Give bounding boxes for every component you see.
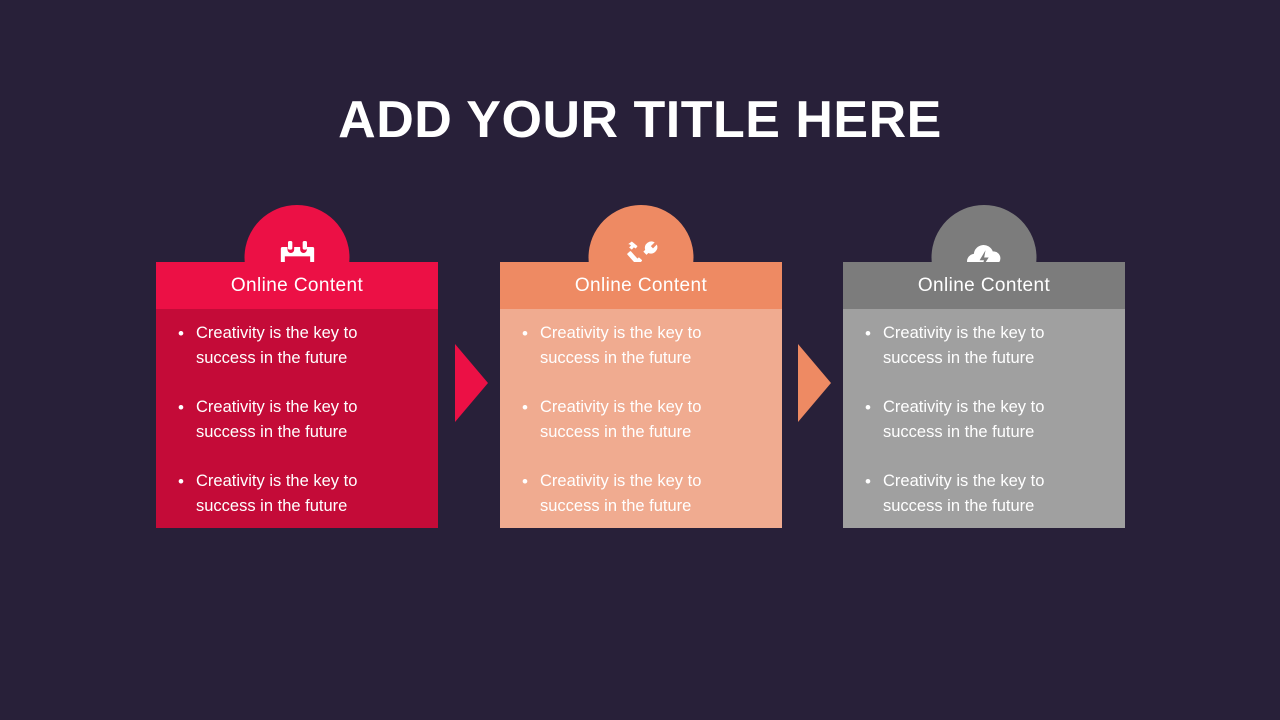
list-item: • Creativity is the key to success in th… (865, 469, 1111, 519)
list-item: • Creativity is the key to success in th… (178, 469, 424, 519)
bullet-glyph: • (522, 395, 540, 420)
arrow-right-icon-2 (798, 344, 831, 422)
list-item: • Creativity is the key to success in th… (865, 321, 1111, 371)
list-item: • Creativity is the key to success in th… (522, 469, 768, 519)
list-item-text: Creativity is the key to success in the … (540, 395, 740, 445)
list-item-text: Creativity is the key to success in the … (196, 321, 396, 371)
list-item-text: Creativity is the key to success in the … (196, 395, 396, 445)
list-item-text: Creativity is the key to success in the … (883, 321, 1083, 371)
list-item: • Creativity is the key to success in th… (178, 321, 424, 371)
list-item-text: Creativity is the key to success in the … (883, 469, 1083, 519)
process-card-3[interactable]: Online Content • Creativity is the key t… (843, 262, 1125, 528)
list-item-text: Creativity is the key to success in the … (540, 321, 740, 371)
list-item: • Creativity is the key to success in th… (178, 395, 424, 445)
list-item: • Creativity is the key to success in th… (522, 321, 768, 371)
arrow-right-icon-1 (455, 344, 488, 422)
list-item: • Creativity is the key to success in th… (865, 395, 1111, 445)
process-card-1[interactable]: Online Content • Creativity is the key t… (156, 262, 438, 528)
list-item-text: Creativity is the key to success in the … (540, 469, 740, 519)
card-3-body: • Creativity is the key to success in th… (843, 309, 1125, 528)
bullet-glyph: • (865, 469, 883, 494)
process-cards-container: Online Content • Creativity is the key t… (0, 0, 1280, 720)
card-2-header: Online Content (500, 262, 782, 309)
bullet-glyph: • (522, 321, 540, 346)
bullet-glyph: • (178, 395, 196, 420)
list-item-text: Creativity is the key to success in the … (883, 395, 1083, 445)
card-1-body: • Creativity is the key to success in th… (156, 309, 438, 528)
bullet-glyph: • (522, 469, 540, 494)
bullet-glyph: • (178, 469, 196, 494)
list-item: • Creativity is the key to success in th… (522, 395, 768, 445)
bullet-glyph: • (865, 321, 883, 346)
card-3-header: Online Content (843, 262, 1125, 309)
bullet-glyph: • (865, 395, 883, 420)
list-item-text: Creativity is the key to success in the … (196, 469, 396, 519)
process-card-2[interactable]: Online Content • Creativity is the key t… (500, 262, 782, 528)
card-1-header: Online Content (156, 262, 438, 309)
card-2-body: • Creativity is the key to success in th… (500, 309, 782, 528)
bullet-glyph: • (178, 321, 196, 346)
